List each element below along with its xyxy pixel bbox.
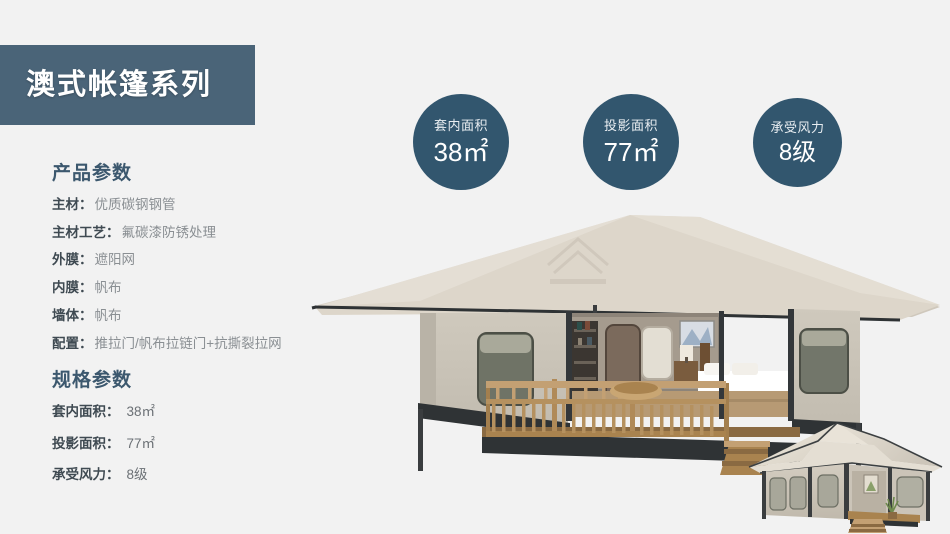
stat-value: 8级	[779, 141, 816, 165]
spec-value: 帆布	[95, 309, 122, 324]
thumb-window	[790, 477, 806, 509]
stat-label: 投影面积	[604, 119, 658, 132]
railing-top-rail	[486, 381, 726, 388]
stat-circle-interior-area: 套内面积 38㎡	[413, 94, 509, 190]
spec-label: 主材工艺：	[52, 226, 120, 241]
railing-balusters	[492, 404, 714, 436]
mullion	[788, 309, 794, 421]
stat-label: 承受风力	[770, 121, 824, 134]
spec-value: 推拉门/帆布拉链门+抗撕裂拉网	[95, 337, 282, 352]
thumb-window	[818, 475, 838, 507]
slide-root: 澳式帐篷系列 产品参数 主材： 优质碳钢钢管 主材工艺： 氟碳漆防锈处理 外膜：…	[0, 0, 950, 534]
thumb-window	[897, 477, 923, 507]
spec-value: 77㎡	[127, 437, 156, 452]
window-right-shade	[802, 331, 846, 346]
product-parameters-heading: 产品参数	[52, 163, 352, 186]
stat-circle-projected-area: 投影面积 77㎡	[583, 94, 679, 190]
thumb-post	[808, 467, 812, 517]
stat-label: 套内面积	[434, 119, 488, 132]
page-title: 澳式帐篷系列	[26, 71, 212, 100]
pillow	[704, 363, 730, 375]
spec-value: 遮阳网	[95, 253, 136, 268]
thumb-post	[926, 472, 930, 521]
tent-thumbnail-illustration	[742, 415, 950, 534]
thumb-window	[770, 478, 786, 510]
thumb-post	[762, 471, 766, 519]
spec-value: 8级	[127, 468, 148, 483]
thumb-post	[844, 463, 849, 519]
mirror-panel	[642, 327, 672, 379]
spec-label: 配置：	[52, 337, 93, 352]
pillow	[732, 363, 758, 375]
roof-canopy	[315, 215, 940, 320]
railing-post	[486, 381, 490, 435]
spec-value: 38㎡	[127, 405, 156, 420]
stat-circle-wind-resistance: 承受风力 8级	[753, 98, 842, 187]
mullion	[566, 311, 572, 421]
spec-label: 主材：	[52, 198, 93, 213]
spec-label: 内膜：	[52, 281, 93, 296]
window-left-shade	[480, 335, 531, 353]
left-leg	[418, 409, 423, 471]
spec-label: 套内面积：	[52, 405, 120, 420]
spec-label: 投影面积：	[52, 437, 120, 452]
spec-label: 外膜：	[52, 253, 93, 268]
spec-value: 帆布	[95, 281, 122, 296]
spec-label: 墙体：	[52, 309, 93, 324]
spec-label: 承受风力：	[52, 468, 120, 483]
stat-value: 77㎡	[604, 139, 659, 165]
spec-value: 氟碳漆防锈处理	[122, 226, 217, 241]
stat-value: 38㎡	[434, 139, 489, 165]
title-banner: 澳式帐篷系列	[0, 45, 255, 125]
spec-value: 优质碳钢钢管	[95, 198, 176, 213]
